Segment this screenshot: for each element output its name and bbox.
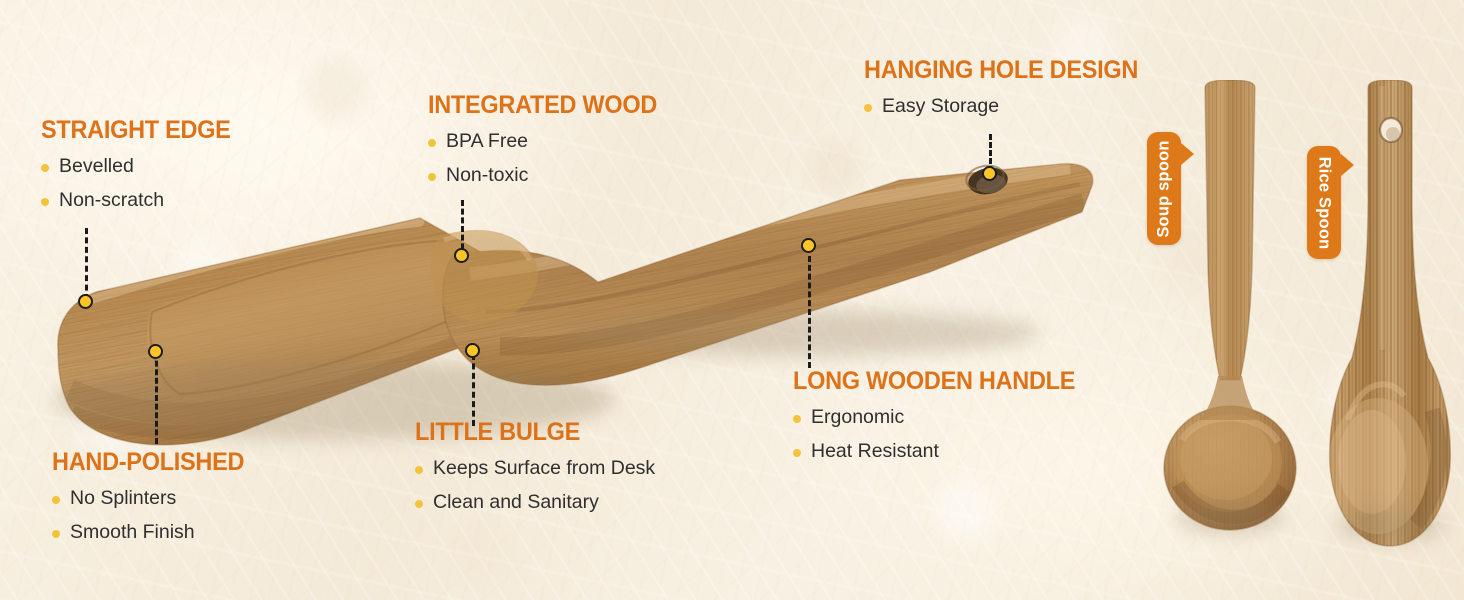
tag-rice-spoon-label: Rice Spoon [1315,156,1334,249]
soup-spoon-shadow [1176,500,1284,534]
list-item: Ergonomic [793,407,1093,428]
callout-integrated-wood: INTEGRATED WOOD BPA Free Non-toxic [428,93,672,187]
tag-soup-spoon[interactable]: Soup spoon [1147,132,1181,245]
callout-long-wooden-handle: LONG WOODEN HANDLE Ergonomic Heat Resist… [793,369,1093,463]
infographic-canvas: STRAIGHT EDGE Bevelled Non-scratch INTEG… [0,0,1464,600]
spatula-handle-shadow [560,310,1040,356]
list-item: Non-scratch [41,190,243,211]
bullet-text: Non-scratch [59,189,164,211]
rice-spoon-shadow [1336,510,1444,540]
callout-bullets: Bevelled Non-scratch [41,156,243,212]
callout-title: HANGING HOLE DESIGN [864,58,1138,83]
list-item: Smooth Finish [52,522,256,543]
dashed-line [472,354,475,426]
bullet-icon [428,139,436,147]
leader-dot-integrated-wood [454,248,469,263]
bullet-text: Keeps Surface from Desk [433,457,655,479]
list-item: Easy Storage [864,96,1156,117]
bullet-icon [41,198,49,206]
bullet-text: No Splinters [70,487,176,509]
dashed-line [808,256,811,368]
callout-title: STRAIGHT EDGE [41,118,231,143]
list-item: BPA Free [428,131,672,152]
list-item: Keeps Surface from Desk [415,458,655,479]
list-item: Heat Resistant [793,441,1093,462]
bullet-text: Bevelled [59,155,134,177]
leader-dot-little-bulge [465,343,480,358]
bullet-icon [428,173,436,181]
callout-bullets: Easy Storage [864,96,1156,117]
bullet-icon [864,104,872,112]
rice-spoon-illustration [1320,80,1460,560]
list-item: Bevelled [41,156,243,177]
dashed-line [155,352,158,444]
bullet-icon [41,164,49,172]
bullet-text: BPA Free [446,130,528,152]
bullet-icon [52,496,60,504]
tag-pointer-icon [1181,143,1194,165]
callout-little-bulge: LITTLE BULGE Keeps Surface from Desk Cle… [415,420,655,514]
bullet-icon [415,466,423,474]
callout-hand-polished: HAND-POLISHED No Splinters Smooth Finish [52,450,256,544]
callout-straight-edge: STRAIGHT EDGE Bevelled Non-scratch [41,118,243,212]
list-item: No Splinters [52,488,256,509]
callout-bullets: Keeps Surface from Desk Clean and Sanita… [415,458,655,514]
callout-bullets: BPA Free Non-toxic [428,131,672,187]
list-item: Clean and Sanitary [415,492,655,513]
bullet-text: Ergonomic [811,406,904,428]
callout-title: HAND-POLISHED [52,450,244,475]
bullet-text: Non-toxic [446,164,528,186]
callout-hanging-hole-design: HANGING HOLE DESIGN Easy Storage [864,58,1156,117]
bullet-icon [793,415,801,423]
leader-dot-hand-polished [148,344,163,359]
bullet-text: Easy Storage [882,95,999,117]
leader-dot-straight-edge [78,294,93,309]
bullet-text: Smooth Finish [70,521,195,543]
callout-title: LONG WOODEN HANDLE [793,369,1075,394]
bullet-text: Heat Resistant [811,440,939,462]
dashed-line [85,228,88,300]
tag-rice-spoon[interactable]: Rice Spoon [1307,146,1341,259]
tag-soup-spoon-label: Soup spoon [1155,140,1174,237]
callout-title: INTEGRATED WOOD [428,93,657,118]
callout-title: LITTLE BULGE [415,420,641,445]
bullet-icon [415,500,423,508]
bullet-icon [793,449,801,457]
tag-pointer-icon [1341,154,1354,176]
callout-bullets: Ergonomic Heat Resistant [793,407,1093,463]
bullet-text: Clean and Sanitary [433,491,599,513]
bullet-icon [52,530,60,538]
list-item: Non-toxic [428,165,672,186]
leader-dot-long-handle [801,238,816,253]
leader-dot-hanging-hole [982,166,997,181]
callout-bullets: No Splinters Smooth Finish [52,488,256,544]
